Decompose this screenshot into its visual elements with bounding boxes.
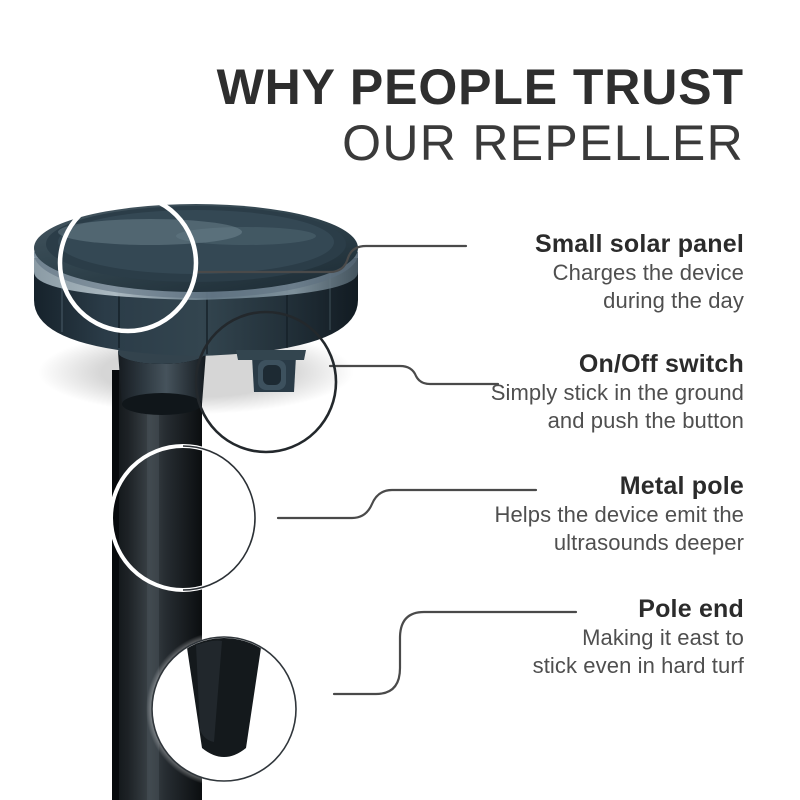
infographic-canvas: WHY PEOPLE TRUST OUR REPELLER Small sola… — [0, 0, 800, 800]
callout-small-solar-panel: Small solar panel Charges the device dur… — [324, 230, 744, 315]
callout-metal-pole: Metal pole Helps the device emit the ult… — [324, 472, 744, 557]
callout-body-pole-line2: ultrasounds deeper — [324, 529, 744, 557]
callout-pole-end: Pole end Making it east to stick even in… — [324, 595, 744, 680]
highlight-circle-solar-panel — [60, 195, 196, 331]
callout-body-end-line2: stick even in hard turf — [324, 652, 744, 680]
highlight-circle-metal-pole-outer — [183, 446, 255, 590]
callout-body-pole-line1: Helps the device emit the — [324, 501, 744, 529]
callout-body-switch-line2: and push the button — [324, 407, 744, 435]
highlight-circle-pole-end — [146, 631, 302, 787]
callout-body-solar-line1: Charges the device — [324, 259, 744, 287]
callout-on-off-switch: On/Off switch Simply stick in the ground… — [324, 350, 744, 435]
callout-heading-pole: Metal pole — [324, 472, 744, 501]
callout-body-switch-line1: Simply stick in the ground — [324, 379, 744, 407]
callout-heading-solar: Small solar panel — [324, 230, 744, 259]
highlight-circle-on-off-switch — [196, 312, 336, 452]
callout-body-solar-line2: during the day — [324, 287, 744, 315]
callout-body-end-line1: Making it east to — [324, 624, 744, 652]
callout-heading-switch: On/Off switch — [324, 350, 744, 379]
callout-heading-end: Pole end — [324, 595, 744, 624]
